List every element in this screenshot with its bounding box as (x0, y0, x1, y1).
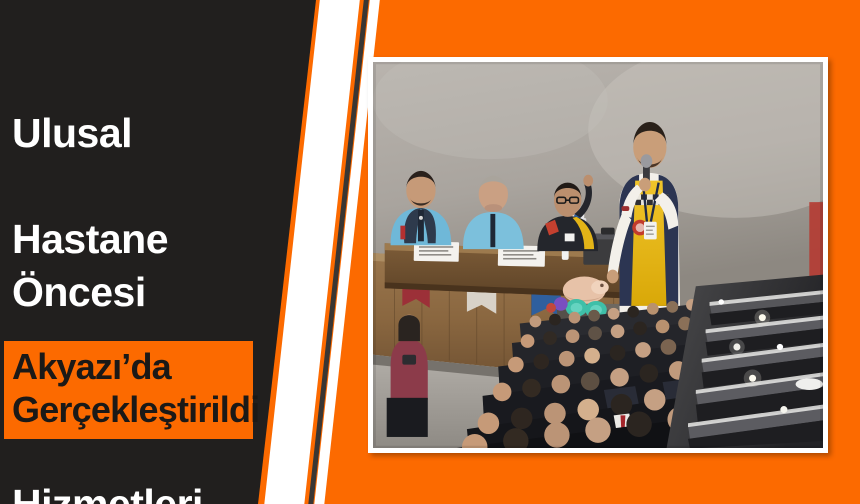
photo-artwork (373, 62, 823, 448)
graphic-canvas: Ulusal Hastane Öncesi Acil Sağlık Hizmet… (0, 0, 860, 504)
kicker-line-2: Gerçekleştirildi (12, 388, 247, 431)
kicker-line-1: Akyazı’da (12, 345, 247, 388)
headline-line-1: Ulusal (12, 107, 312, 160)
kicker-highlight-box: Akyazı’da Gerçekleştirildi (4, 341, 253, 439)
symposium-photo (373, 62, 823, 448)
photo-frame (368, 57, 828, 453)
headline-line-2: Hastane Öncesi (12, 213, 312, 319)
headline-line-4: Hizmetleri (12, 478, 312, 504)
